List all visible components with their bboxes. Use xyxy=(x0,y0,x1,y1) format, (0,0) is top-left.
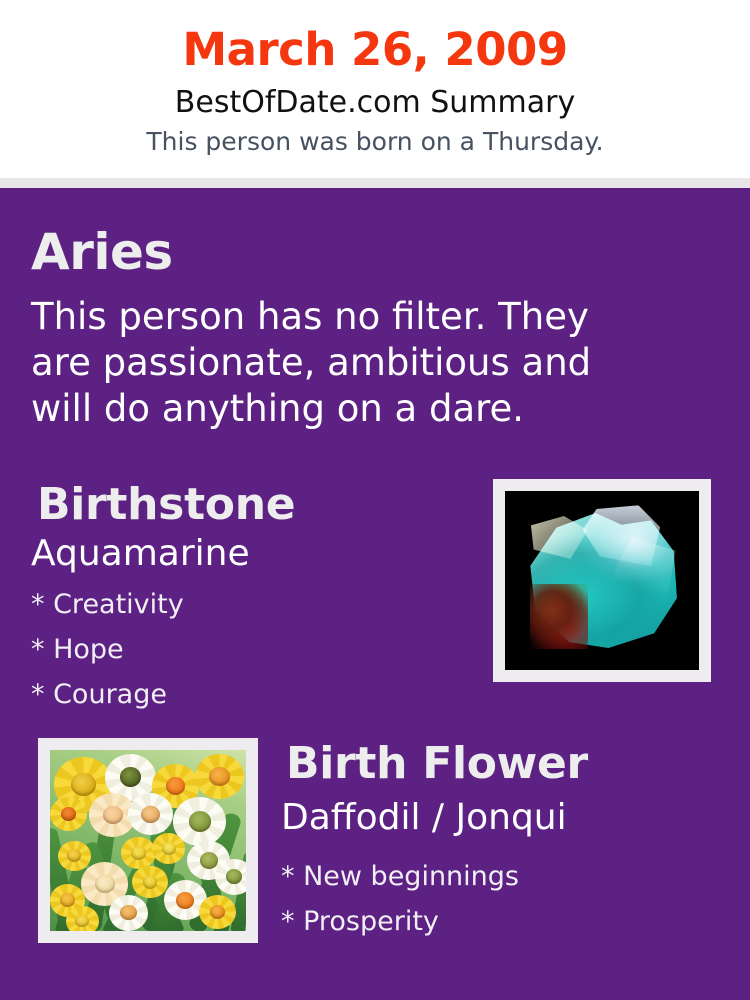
daffodil-bloom xyxy=(215,859,246,895)
crystal-inclusion xyxy=(530,584,588,648)
birth-flower-trait-list: * New beginnings * Prosperity xyxy=(281,854,711,944)
page-title-date: March 26, 2009 xyxy=(0,24,750,76)
zodiac-description: This person has no filter. They are pass… xyxy=(31,294,651,432)
daffodil-bloom xyxy=(132,866,167,899)
daffodil-bloom xyxy=(66,906,99,931)
list-item: * Creativity xyxy=(31,582,451,627)
daffodil-bloom xyxy=(58,841,91,872)
daffodil-bloom xyxy=(195,754,244,799)
list-item: * Courage xyxy=(31,672,451,717)
daffodil-bloom xyxy=(50,797,87,831)
birth-flower-image-frame xyxy=(38,738,258,943)
daffodil-bloom xyxy=(199,895,236,929)
birthstone-trait-list: * Creativity * Hope * Courage xyxy=(31,582,451,717)
site-summary-label: BestOfDate.com Summary xyxy=(0,85,750,121)
summary-card: March 26, 2009 BestOfDate.com Summary Th… xyxy=(0,0,750,1000)
daffodil-bloom xyxy=(121,837,156,870)
birthstone-image-frame xyxy=(493,479,711,682)
daffodil-cluster-art xyxy=(50,750,246,931)
zodiac-sign-title: Aries xyxy=(31,222,173,282)
birthstone-image xyxy=(505,491,699,670)
list-item: * Prosperity xyxy=(281,899,711,944)
daffodil-bloom xyxy=(109,895,148,931)
born-weekday-text: This person was born on a Thursday. xyxy=(0,126,750,158)
birthstone-heading: Birthstone xyxy=(37,478,295,531)
header-divider xyxy=(0,178,750,188)
daffodil-bloom xyxy=(152,833,185,864)
header: March 26, 2009 BestOfDate.com Summary Th… xyxy=(0,0,750,178)
birth-flower-heading: Birth Flower xyxy=(286,737,588,790)
list-item: * New beginnings xyxy=(281,854,711,899)
birth-flower-image xyxy=(50,750,246,931)
list-item: * Hope xyxy=(31,627,451,672)
birthstone-name: Aquamarine xyxy=(31,532,250,576)
birth-flower-name: Daffodil / Jonqui xyxy=(281,796,567,840)
